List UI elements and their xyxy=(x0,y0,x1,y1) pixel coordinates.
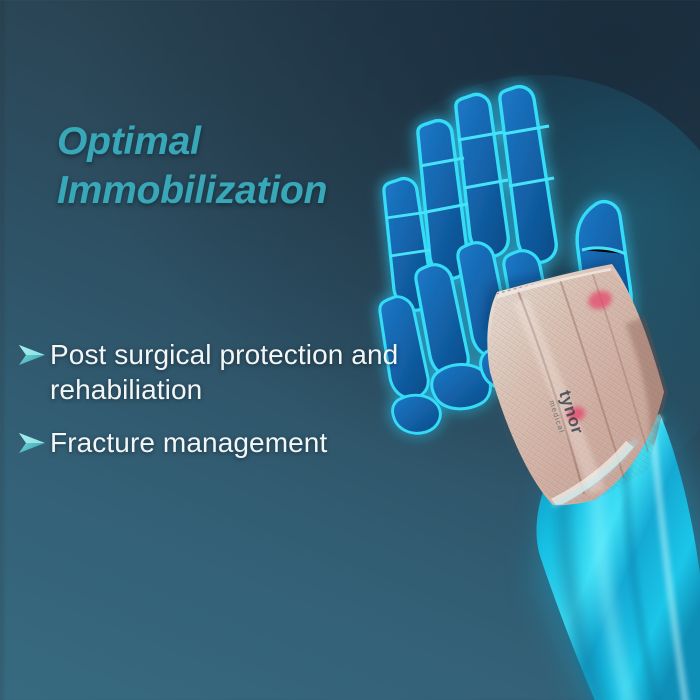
svg-text:tynor: tynor xyxy=(555,388,587,437)
list-item: Fracture management xyxy=(14,425,466,460)
finger-middle xyxy=(500,87,556,263)
list-item: Post surgical protection and rehabiliati… xyxy=(14,337,466,407)
brand-label: tynor medical xyxy=(546,388,587,440)
forearm-group xyxy=(536,414,700,700)
slide-canvas: tynor medical Optimal Immobilization xyxy=(0,0,700,700)
headline-line-1: Optimal xyxy=(57,117,457,166)
wrist-brace-group: tynor medical xyxy=(460,250,700,530)
list-item-label: Fracture management xyxy=(50,427,327,458)
finger-thumb xyxy=(577,202,631,342)
arrow-right-icon xyxy=(17,343,47,367)
list-item-label: Post surgical protection and rehabiliati… xyxy=(50,339,398,405)
arrow-right-icon xyxy=(17,431,47,455)
feature-bullet-list: Post surgical protection and rehabiliati… xyxy=(14,337,466,460)
finger-index xyxy=(456,94,508,256)
headline-line-2: Immobilization xyxy=(57,166,457,215)
svg-text:medical: medical xyxy=(547,399,566,434)
headline: Optimal Immobilization xyxy=(57,117,457,215)
